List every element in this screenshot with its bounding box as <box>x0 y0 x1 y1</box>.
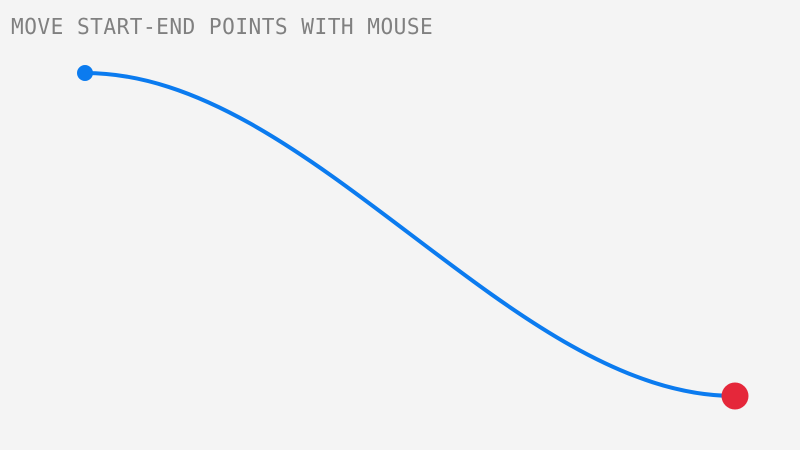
end-point-handle[interactable] <box>722 383 749 410</box>
bezier-canvas[interactable] <box>0 0 800 450</box>
bezier-curve <box>85 73 735 396</box>
start-point-handle[interactable] <box>77 65 93 81</box>
app-root: MOVE START-END POINTS WITH MOUSE <box>0 0 800 450</box>
page-title: MOVE START-END POINTS WITH MOUSE <box>11 15 433 41</box>
